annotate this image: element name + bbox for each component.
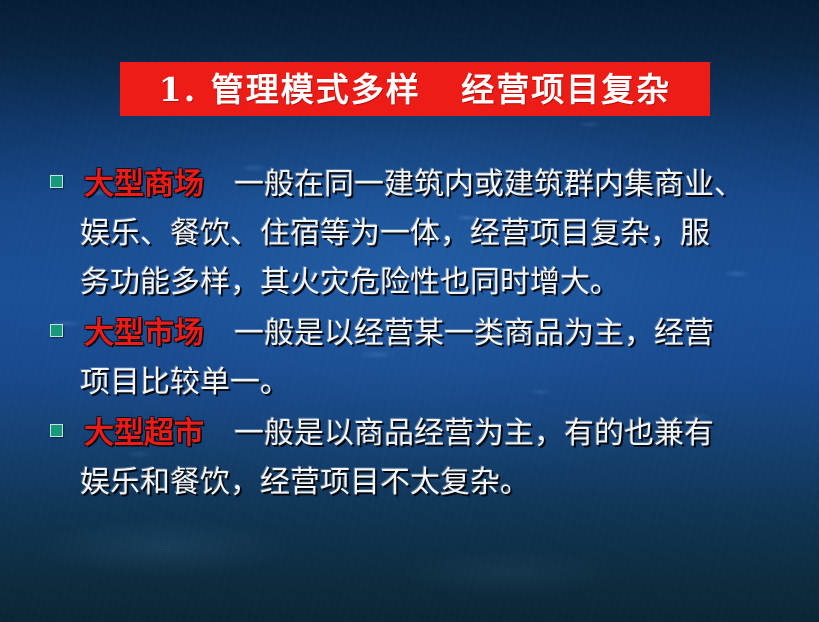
square-bullet-icon bbox=[50, 424, 63, 437]
bullet-block-3: 大型超市 一般是以商品经营为主，有的也兼有 娱乐和餐饮，经营项目不太复杂。 bbox=[44, 409, 784, 507]
bullet-term: 大型商场 bbox=[84, 167, 204, 202]
square-bullet-icon bbox=[50, 175, 63, 188]
bullet-line: 大型超市 一般是以商品经营为主，有的也兼有 bbox=[44, 409, 784, 458]
bullet-line: 大型商场 一般在同一建筑内或建筑群内集商业、 bbox=[44, 160, 784, 209]
bullet-term: 大型市场 bbox=[84, 316, 204, 351]
bullet-block-1: 大型商场 一般在同一建筑内或建筑群内集商业、 娱乐、餐饮、住宿等为一体，经营项目… bbox=[44, 160, 784, 307]
bullet-line: 娱乐、餐饮、住宿等为一体，经营项目复杂，服 bbox=[44, 209, 784, 258]
presentation-slide: 1. 管理模式多样 经营项目复杂 大型商场 一般在同一建筑内或建筑群内集商业、 … bbox=[0, 0, 819, 622]
slide-body: 大型商场 一般在同一建筑内或建筑群内集商业、 娱乐、餐饮、住宿等为一体，经营项目… bbox=[44, 160, 784, 509]
bullet-line: 娱乐和餐饮，经营项目不太复杂。 bbox=[44, 458, 784, 507]
bullet-line: 项目比较单一。 bbox=[44, 358, 784, 407]
bullet-row: 大型市场 一般是以经营某一类商品为主，经营 bbox=[44, 309, 784, 358]
bullet-term: 大型超市 bbox=[84, 416, 204, 451]
bullet-line: 大型市场 一般是以经营某一类商品为主，经营 bbox=[44, 309, 784, 358]
bullet-row: 大型超市 一般是以商品经营为主，有的也兼有 bbox=[44, 409, 784, 458]
bullet-text: 一般是以经营某一类商品为主，经营 bbox=[204, 316, 714, 351]
slide-title: 1. 管理模式多样 经营项目复杂 bbox=[159, 73, 671, 106]
bullet-text: 一般在同一建筑内或建筑群内集商业、 bbox=[204, 167, 744, 202]
bullet-block-2: 大型市场 一般是以经营某一类商品为主，经营 项目比较单一。 bbox=[44, 309, 784, 407]
square-bullet-icon bbox=[50, 324, 63, 337]
bullet-line: 务功能多样，其火灾危险性也同时增大。 bbox=[44, 258, 784, 307]
bullet-text: 一般是以商品经营为主，有的也兼有 bbox=[204, 416, 714, 451]
slide-title-banner: 1. 管理模式多样 经营项目复杂 bbox=[120, 62, 710, 116]
bullet-row: 大型商场 一般在同一建筑内或建筑群内集商业、 bbox=[44, 160, 784, 209]
